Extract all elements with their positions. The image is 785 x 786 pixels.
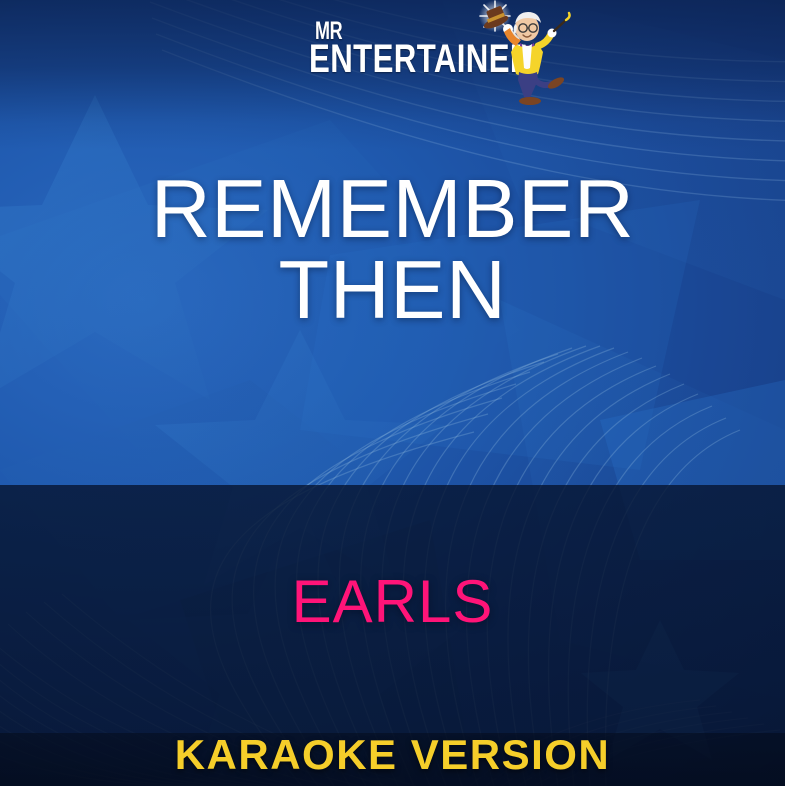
artist-name: EARLS (0, 572, 785, 632)
song-title-line-1: REMEMBER (40, 168, 745, 249)
karaoke-version-label: KARAOKE VERSION (0, 734, 785, 776)
karaoke-cover-art: MR ENTERTAINER (0, 0, 785, 786)
song-title-line-2: THEN (40, 249, 745, 330)
song-title: REMEMBER THEN (0, 168, 785, 331)
background-decoration (0, 0, 785, 786)
entertainer-mascot-icon (470, 0, 575, 108)
